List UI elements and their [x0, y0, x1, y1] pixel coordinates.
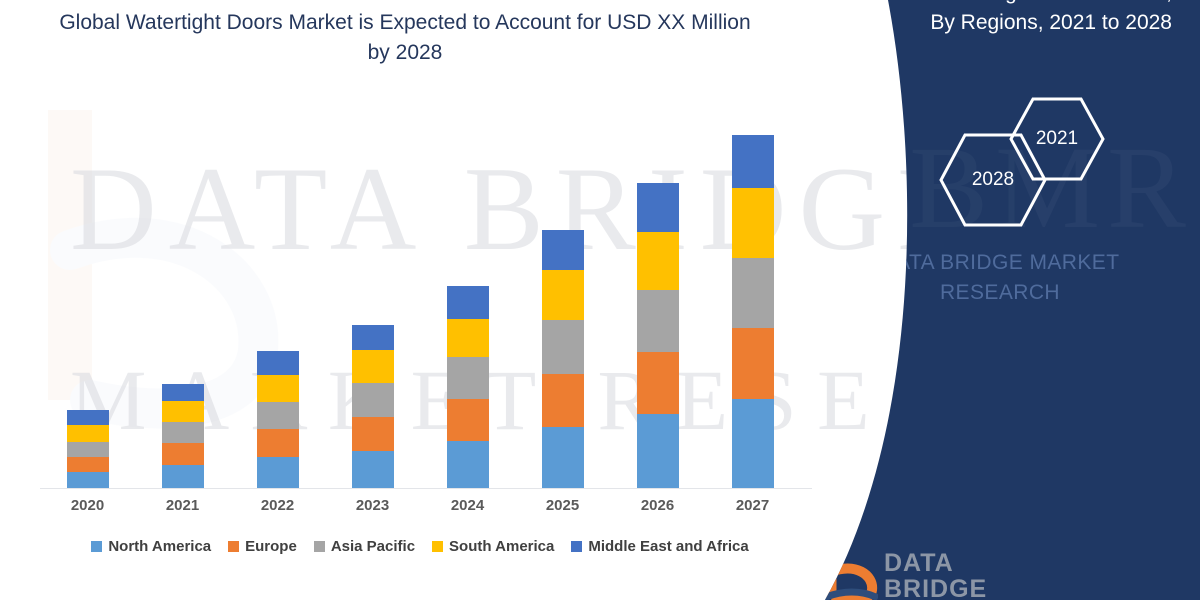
stacked-bar[interactable] [257, 351, 299, 488]
right-panel-title: Global Watertight Doors Market, By Regio… [872, 0, 1172, 39]
data-bridge-logo: DATA BRIDGE MARKET RESEARCH [822, 544, 1052, 600]
legend-swatch [571, 541, 582, 552]
bar-segment[interactable] [352, 383, 394, 417]
logo-text: DATA BRIDGE MARKET RESEARCH [884, 550, 1052, 600]
bar-column [325, 110, 420, 488]
bar-segment[interactable] [162, 422, 204, 442]
logo-line-1: DATA BRIDGE [884, 550, 1052, 600]
stacked-bar[interactable] [447, 286, 489, 488]
x-axis-tick-label: 2027 [705, 497, 800, 514]
legend-item[interactable]: Europe [228, 538, 297, 555]
page-title: Global Watertight Doors Market is Expect… [55, 8, 755, 68]
bar-segment[interactable] [447, 286, 489, 318]
legend-label: Asia Pacific [331, 538, 415, 555]
stacked-bar[interactable] [637, 183, 679, 488]
bar-column [40, 110, 135, 488]
bar-column [515, 110, 610, 488]
legend-label: South America [449, 538, 554, 555]
bar-segment[interactable] [352, 325, 394, 351]
plot-area [40, 110, 800, 488]
legend-label: Europe [245, 538, 297, 555]
legend-swatch [91, 541, 102, 552]
x-axis-tick-label: 2020 [40, 497, 135, 514]
x-axis-tick-label: 2026 [610, 497, 705, 514]
bar-column [135, 110, 230, 488]
stacked-bar[interactable] [732, 135, 774, 488]
legend-swatch [432, 541, 443, 552]
bar-segment[interactable] [732, 258, 774, 327]
bridge-b-logo-icon [822, 548, 878, 600]
bar-segment[interactable] [257, 351, 299, 375]
legend-item[interactable]: Middle East and Africa [571, 538, 748, 555]
bar-segment[interactable] [447, 441, 489, 488]
bar-segment[interactable] [732, 135, 774, 189]
x-axis-tick-label: 2025 [515, 497, 610, 514]
infographic-root: DATA BRIDGE MARKET RESEARCH Global Water… [0, 0, 1200, 600]
bar-segment[interactable] [542, 230, 584, 271]
bar-segment[interactable] [732, 399, 774, 488]
x-axis-tick-label: 2021 [135, 497, 230, 514]
brand-line-2: RESEARCH [800, 278, 1200, 308]
bar-segment[interactable] [542, 270, 584, 320]
bar-segment[interactable] [162, 401, 204, 422]
bar-segment[interactable] [447, 319, 489, 357]
brand-block: DATA BRIDGE MARKET RESEARCH [800, 248, 1200, 309]
bar-column [230, 110, 325, 488]
x-axis-tick-label: 2024 [420, 497, 515, 514]
legend-label: North America [108, 538, 211, 555]
legend-swatch [228, 541, 239, 552]
bar-segment[interactable] [637, 414, 679, 488]
stacked-bar[interactable] [162, 384, 204, 488]
bar-segment[interactable] [162, 443, 204, 466]
brand-line-1: DATA BRIDGE MARKET [800, 248, 1200, 278]
bar-segment[interactable] [637, 290, 679, 352]
bar-group [40, 110, 800, 488]
bar-segment[interactable] [257, 429, 299, 457]
bar-segment[interactable] [637, 232, 679, 290]
bar-segment[interactable] [447, 357, 489, 399]
bar-segment[interactable] [637, 352, 679, 414]
x-axis-labels: 20202021202220232024202520262027 [40, 497, 800, 514]
bar-segment[interactable] [732, 188, 774, 258]
legend-label: Middle East and Africa [588, 538, 748, 555]
bar-segment[interactable] [162, 465, 204, 488]
legend-item[interactable]: South America [432, 538, 554, 555]
bar-segment[interactable] [352, 451, 394, 488]
chart-panel: Global Watertight Doors Market is Expect… [0, 0, 830, 600]
right-navy-panel: DBMR Global Watertight Doors Market, By … [800, 0, 1200, 600]
bar-segment[interactable] [542, 427, 584, 488]
bar-segment[interactable] [447, 399, 489, 440]
x-axis-tick-label: 2022 [230, 497, 325, 514]
bar-segment[interactable] [732, 328, 774, 400]
x-axis-tick-label: 2023 [325, 497, 420, 514]
hexagon-2021-label: 2021 [1007, 128, 1107, 150]
hexagon-2021: 2021 [1007, 95, 1107, 183]
stacked-bar[interactable] [352, 325, 394, 488]
legend-item[interactable]: North America [91, 538, 211, 555]
hexagon-group: 2028 2021 [895, 95, 1125, 225]
bar-segment[interactable] [637, 183, 679, 232]
stacked-bar[interactable] [542, 230, 584, 488]
bar-segment[interactable] [67, 442, 109, 457]
bar-segment[interactable] [67, 472, 109, 488]
chart-legend: North AmericaEuropeAsia PacificSouth Ame… [40, 538, 800, 555]
bar-column [420, 110, 515, 488]
legend-swatch [314, 541, 325, 552]
bar-segment[interactable] [67, 425, 109, 441]
bar-segment[interactable] [542, 320, 584, 374]
bar-segment[interactable] [67, 410, 109, 426]
bar-segment[interactable] [352, 417, 394, 451]
bar-segment[interactable] [542, 374, 584, 427]
legend-item[interactable]: Asia Pacific [314, 538, 415, 555]
bar-segment[interactable] [257, 402, 299, 429]
bar-segment[interactable] [67, 457, 109, 472]
x-axis-line [40, 488, 812, 489]
bar-segment[interactable] [257, 457, 299, 488]
bar-segment[interactable] [257, 375, 299, 402]
bar-column [705, 110, 800, 488]
bar-segment[interactable] [352, 350, 394, 382]
bar-column [610, 110, 705, 488]
bar-segment[interactable] [162, 384, 204, 401]
stacked-bar[interactable] [67, 410, 109, 488]
